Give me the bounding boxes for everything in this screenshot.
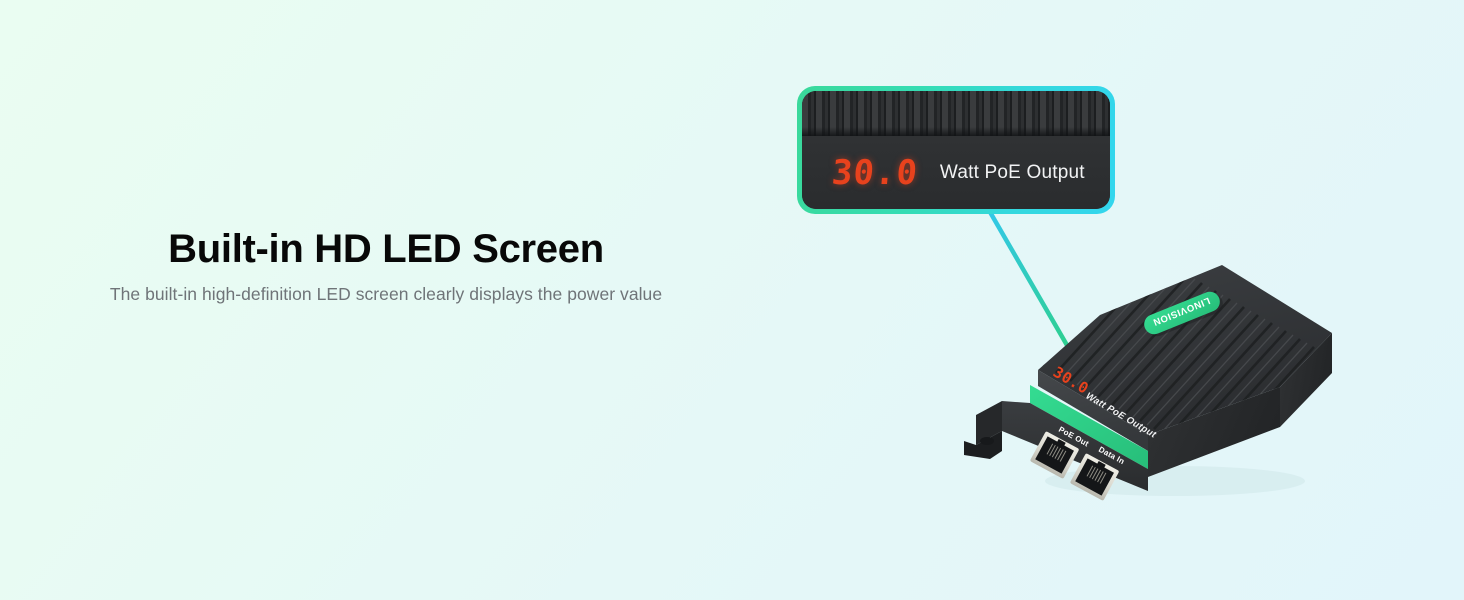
poe-injector-device: LINOVISION 30.0 Watt PoE Output PoE Out … xyxy=(960,255,1360,505)
page-subtitle: The built-in high-definition LED screen … xyxy=(66,282,706,307)
bracket-screw-hole xyxy=(980,437,994,445)
wall-mount-bracket xyxy=(964,401,1002,459)
vent-grille-icon xyxy=(802,91,1110,137)
page-title: Built-in HD LED Screen xyxy=(66,226,706,272)
callout-inner-panel: 30.0 Watt PoE Output xyxy=(802,91,1110,209)
product-feature-banner: Built-in HD LED Screen The built-in high… xyxy=(0,0,1464,600)
led-caption-label: Watt PoE Output xyxy=(940,162,1085,184)
callout-display-face: 30.0 Watt PoE Output xyxy=(802,136,1110,209)
copy-block: Built-in HD LED Screen The built-in high… xyxy=(66,226,706,307)
led-power-value: 30.0 xyxy=(831,156,920,190)
led-screen-callout: 30.0 Watt PoE Output xyxy=(797,86,1115,214)
